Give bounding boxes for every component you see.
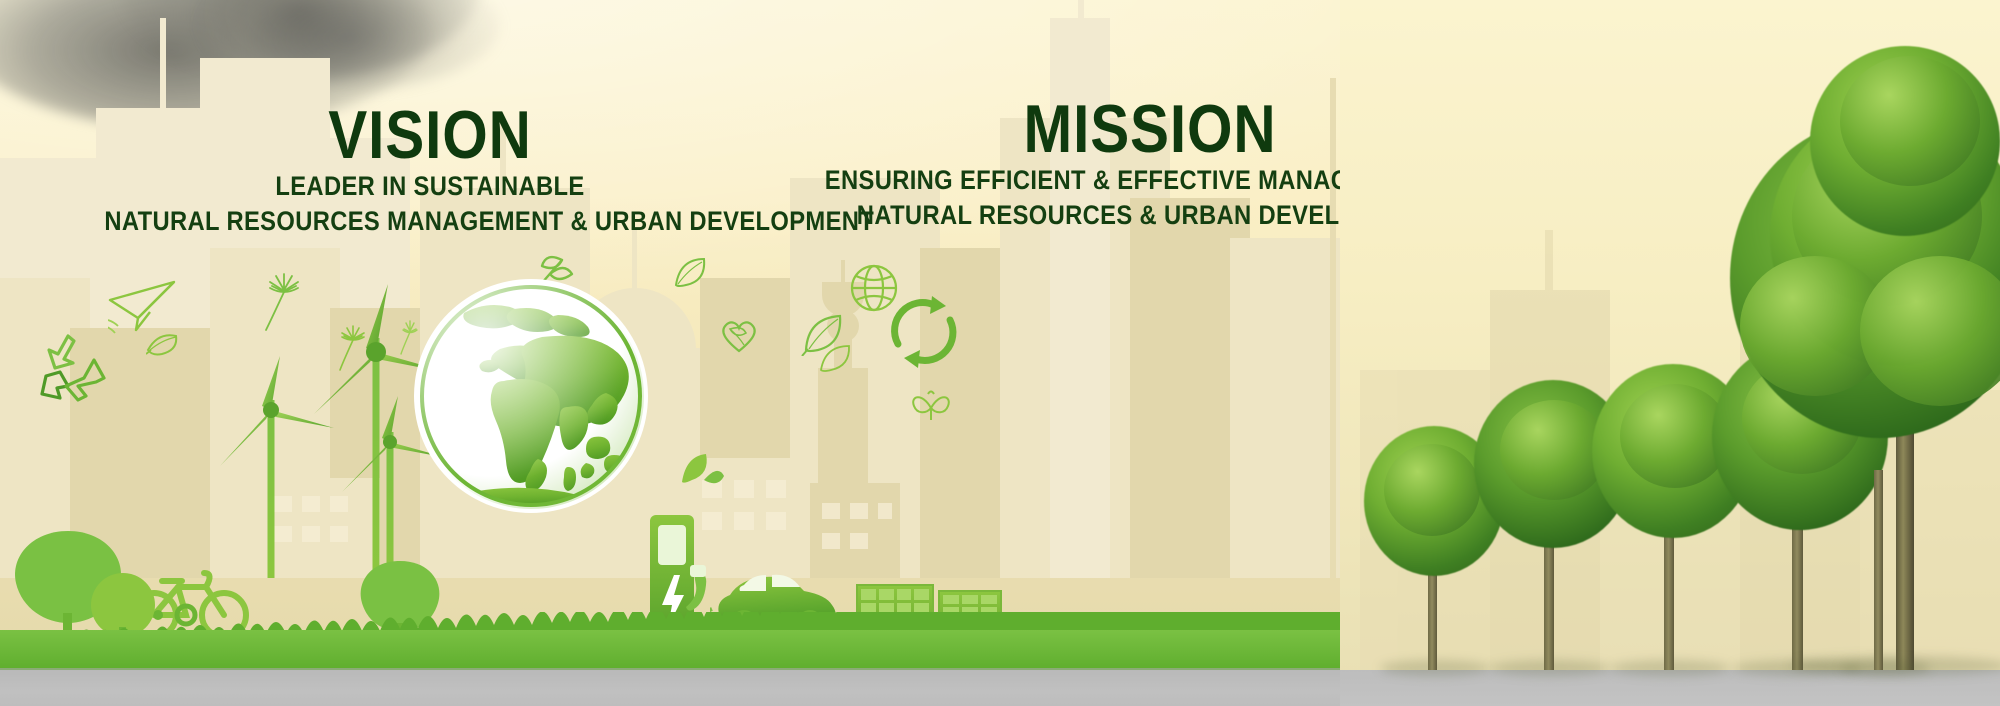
tree-grove — [1340, 0, 2000, 706]
vision-line-1: LEADER IN SUSTAINABLE — [104, 171, 755, 203]
heart-leaf-icon — [718, 313, 760, 360]
sprout-icon — [678, 450, 726, 489]
vision-mission-banner: VISION LEADER IN SUSTAINABLE NATURAL RES… — [0, 0, 2000, 706]
globe-earth-icon — [418, 283, 644, 509]
skyline-spire — [1078, 0, 1084, 578]
leaf-icon — [818, 344, 852, 379]
leaf-icon — [146, 330, 180, 361]
leaf-icon — [672, 255, 708, 294]
recycle-arrows-icon — [884, 292, 966, 377]
wind-turbine-icon — [206, 358, 336, 578]
globe-highlight — [418, 283, 644, 509]
vision-line-2: NATURAL RESOURCES MANAGEMENT & URBAN DEV… — [104, 206, 755, 238]
vision-heading: VISION — [112, 104, 748, 167]
vision-block: VISION LEADER IN SUSTAINABLE NATURAL RES… — [60, 104, 800, 238]
recycle-icon — [38, 330, 114, 419]
butterfly-icon — [908, 388, 954, 429]
